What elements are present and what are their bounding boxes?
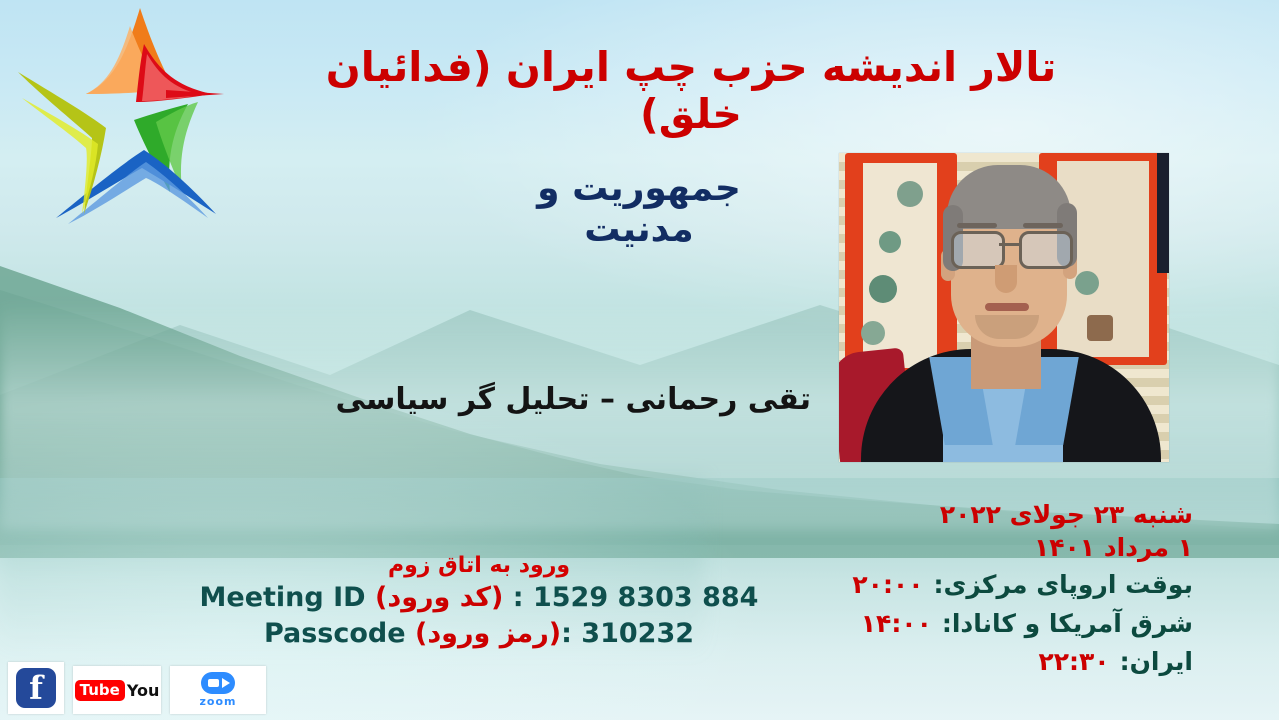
portrait-motif	[1075, 271, 1099, 295]
meeting-id-separator: :	[503, 582, 533, 613]
youtube-tube-text: Tube	[75, 680, 125, 701]
meeting-id-value[interactable]: 884 8303 1529	[533, 582, 759, 613]
timezone-time-cet: ۲۰:۰۰	[852, 570, 923, 599]
timezone-row-edt: شرق آمریکا و کانادا:۱۴:۰۰	[813, 606, 1193, 642]
youtube-you-text: You	[127, 681, 160, 700]
portrait-motif	[897, 181, 923, 207]
passcode-line: Passcode (رمز ورود): 310232	[199, 617, 759, 651]
timezone-row-cet: بوقت اروپای مرکزی:۲۰:۰۰	[813, 567, 1193, 603]
event-poster: تالار اندیشه حزب چپ ایران (فدائیان خلق) …	[0, 0, 1279, 720]
timezone-time-edt: ۱۴:۰۰	[861, 609, 932, 638]
timezone-label-edt: شرق آمریکا و کانادا:	[942, 609, 1193, 638]
passcode-separator: :	[561, 618, 581, 649]
timezone-label-cet: بوقت اروپای مرکزی:	[933, 570, 1193, 599]
youtube-logo: You Tube	[75, 680, 160, 701]
social-badges: zoom You Tube	[8, 662, 266, 714]
passcode-label-fa: (رمز ورود)	[415, 618, 561, 649]
portrait-dark-edge	[1157, 153, 1169, 273]
youtube-badge[interactable]: You Tube	[73, 666, 161, 714]
portrait-motif	[1087, 315, 1113, 341]
zoom-logo: zoom	[200, 672, 237, 708]
timezone-time-iran: ۲۲:۳۰	[1039, 647, 1110, 676]
portrait-motif	[879, 231, 901, 253]
speaker-portrait-photo	[839, 153, 1169, 462]
zoom-wordmark: zoom	[200, 695, 237, 708]
zoom-entry-heading: ورود به اتاق زوم	[199, 553, 759, 579]
schedule-block: شنبه ۲۳ جولای ۲۰۲۲ ۱ مرداد ۱۴۰۱ بوقت ارو…	[813, 498, 1193, 680]
meeting-id-label-fa: (کد ورود)	[375, 582, 503, 613]
passcode-label-en: Passcode	[264, 618, 406, 649]
glasses-bridge	[999, 243, 1019, 246]
passcode-value[interactable]: 310232	[581, 618, 694, 649]
zoom-badge[interactable]: zoom	[170, 666, 266, 714]
date-gregorian: شنبه ۲۳ جولای ۲۰۲۲	[813, 498, 1193, 531]
page-title: تالار اندیشه حزب چپ ایران (فدائیان خلق)	[271, 44, 1111, 138]
facebook-badge[interactable]	[8, 662, 64, 714]
poster-subtitle: جمهوریت و مدنیت	[489, 168, 789, 250]
portrait-motif	[861, 321, 885, 345]
date-persian: ۱ مرداد ۱۴۰۱	[813, 531, 1193, 564]
zoom-meeting-info: ورود به اتاق زوم Meeting ID (کد ورود) : …	[199, 553, 759, 651]
portrait-glasses	[949, 231, 1071, 265]
zoom-camera-icon	[201, 672, 235, 694]
speaker-name-and-role: تقی رحمانی – تحلیل گر سیاسی	[461, 382, 811, 417]
meeting-id-label-en: Meeting ID	[200, 582, 366, 613]
glasses-lens-left	[951, 231, 1005, 269]
facebook-icon	[16, 668, 56, 708]
portrait-eyebrow-right	[1023, 223, 1063, 228]
timezone-label-iran: ایران:	[1120, 647, 1193, 676]
portrait-eyebrow-left	[957, 223, 997, 228]
portrait-mouth	[985, 303, 1029, 311]
five-point-star-logo	[16, 2, 226, 234]
glasses-lens-right	[1019, 231, 1073, 269]
timezone-row-iran: ایران:۲۲:۳۰	[813, 644, 1193, 680]
meeting-id-line: Meeting ID (کد ورود) : 884 8303 1529	[199, 581, 759, 615]
portrait-nose	[995, 265, 1017, 293]
portrait-motif	[869, 275, 897, 303]
